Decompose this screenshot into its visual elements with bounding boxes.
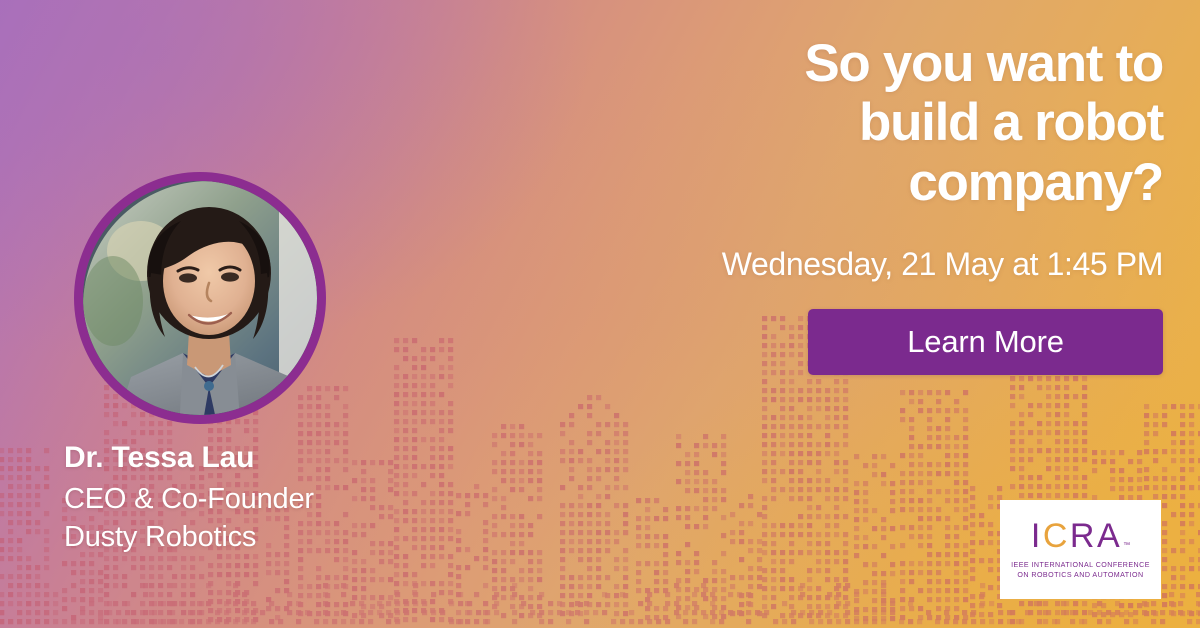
icra-subtitle-line-1: IEEE INTERNATIONAL CONFERENCE — [1011, 560, 1150, 570]
speaker-info: Dr. Tessa Lau CEO & Co-Founder Dusty Rob… — [64, 440, 314, 556]
icra-subtitle-line-2: ON ROBOTICS AND AUTOMATION — [1017, 570, 1143, 580]
avatar-photo — [83, 181, 317, 415]
headline-line-1: So you want to — [663, 34, 1163, 93]
speaker-avatar — [74, 172, 326, 424]
icra-letter-a: A — [1097, 519, 1122, 553]
headline-line-3: company? — [663, 153, 1163, 212]
icra-logo: I C R A ™ IEEE INTERNATIONAL CONFERENCE … — [1000, 500, 1161, 599]
cta-row: Learn More — [663, 309, 1163, 375]
icra-letter-i: I — [1031, 519, 1043, 553]
speaker-role: CEO & Co-Founder — [64, 481, 314, 518]
learn-more-button[interactable]: Learn More — [808, 309, 1163, 375]
speaker-name: Dr. Tessa Lau — [64, 440, 314, 475]
headline-line-2: build a robot — [663, 93, 1163, 152]
page-title: So you want to build a robot company? — [663, 34, 1163, 212]
event-datetime: Wednesday, 21 May at 1:45 PM — [663, 246, 1163, 283]
speaker-organization: Dusty Robotics — [64, 519, 314, 556]
icra-wordmark: I C R A ™ — [1031, 519, 1130, 553]
trademark-symbol: ™ — [1123, 542, 1130, 549]
icra-letter-r: R — [1070, 519, 1097, 553]
promo-poster: Dr. Tessa Lau CEO & Co-Founder Dusty Rob… — [0, 0, 1200, 628]
promo-content: So you want to build a robot company? We… — [663, 34, 1163, 375]
icra-letter-c: C — [1043, 519, 1070, 553]
